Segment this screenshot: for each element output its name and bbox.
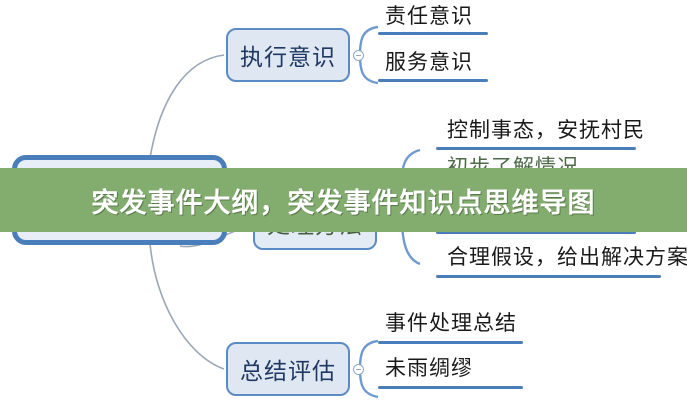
leaf-underline <box>378 386 523 389</box>
leaf-incident-handling-summary[interactable]: 事件处理总结 <box>385 313 517 334</box>
mindmap-canvas: 执行意识 责任意识 服务意识 处理方法 控制事态，安抚村民 初步了解情况 组织人… <box>0 0 687 400</box>
leaf-underline <box>378 341 523 344</box>
branch-node-summary-evaluation[interactable]: 总结评估 <box>226 342 350 396</box>
leaf-underline <box>436 147 636 150</box>
leaf-underline <box>378 32 488 35</box>
leaf-service-awareness[interactable]: 服务意识 <box>385 52 473 73</box>
leaf-reasonable-assumption-solution[interactable]: 合理假设，给出解决方案 <box>447 247 687 268</box>
collapse-toggle-summary-evaluation[interactable] <box>353 364 364 375</box>
branch-node-execution-awareness[interactable]: 执行意识 <box>226 28 350 82</box>
leaf-control-situation-comfort-villagers[interactable]: 控制事态，安抚村民 <box>447 120 645 141</box>
title-banner: 突发事件大纲，突发事件知识点思维导图 <box>0 168 687 232</box>
banner-title-text: 突发事件大纲，突发事件知识点思维导图 <box>92 181 596 220</box>
leaf-underline <box>378 79 488 82</box>
leaf-prepare-in-advance[interactable]: 未雨绸缪 <box>385 358 473 379</box>
collapse-toggle-execution-awareness[interactable] <box>353 50 364 61</box>
leaf-responsibility-awareness[interactable]: 责任意识 <box>385 6 473 27</box>
leaf-underline <box>436 275 661 278</box>
